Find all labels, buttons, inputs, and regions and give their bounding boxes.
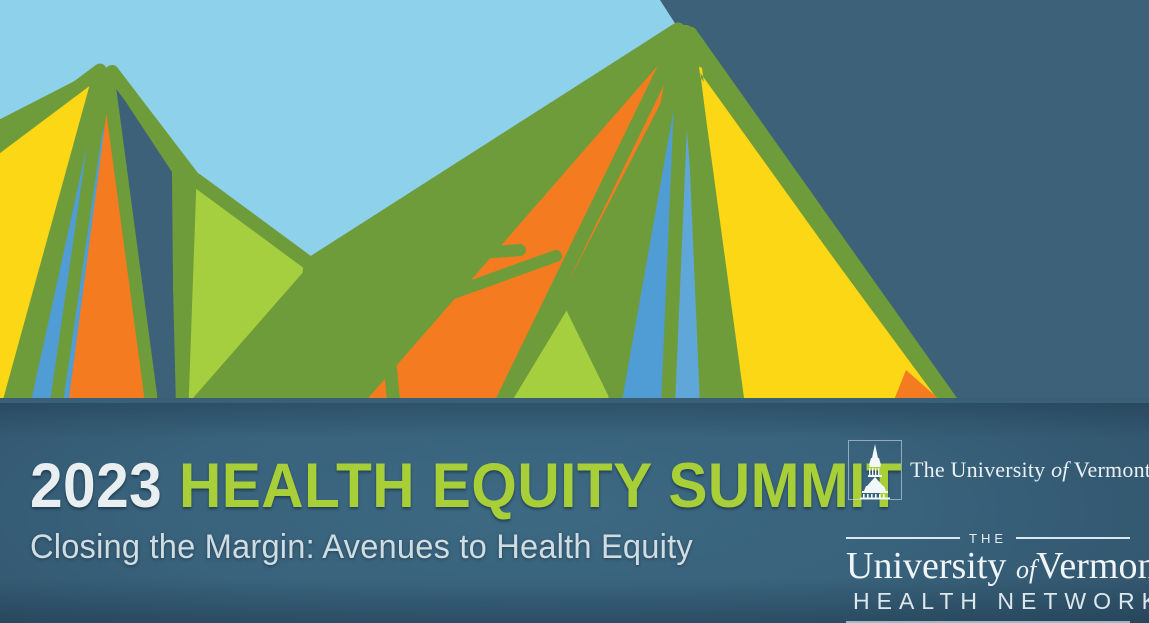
summit-title-slide: 2023 HEALTH EQUITY SUMMIT Closing the Ma… [0,0,1149,623]
uvm-wordmark-vermont: Vermont [1069,457,1149,482]
mountain-artwork [0,0,1149,406]
uvm-wordmark-the: The University [910,457,1051,482]
hn-network-line: HEALTH NETWORK [846,588,1130,615]
page-subtitle: Closing the Margin: Avenues to Health Eq… [30,530,788,566]
hn-vermont-word: Vermont [1036,545,1149,587]
hn-university-line: University ofVermont [846,547,1130,587]
uvm-wordmark: The University of Vermont [910,459,1149,481]
hn-the-row: THE [846,531,1130,545]
hn-university-word: University [846,545,1016,587]
uvm-health-network-logo: THE University ofVermont HEALTH NETWORK [846,531,1130,623]
hn-the-label: THE [969,532,1007,545]
uvm-tower-icon [848,440,902,500]
title-block: 2023 HEALTH EQUITY SUMMIT Closing the Ma… [30,455,820,566]
page-title: 2023 HEALTH EQUITY SUMMIT [30,455,765,518]
uvm-wordmark-of: of [1051,457,1069,482]
uvm-logo: The University of Vermont [848,440,1149,500]
hn-rule-left [846,537,960,539]
title-year: 2023 [30,451,162,521]
hn-of-word: of [1016,555,1036,584]
title-text: HEALTH EQUITY SUMMIT [179,451,902,521]
hn-rule-right [1016,537,1130,539]
